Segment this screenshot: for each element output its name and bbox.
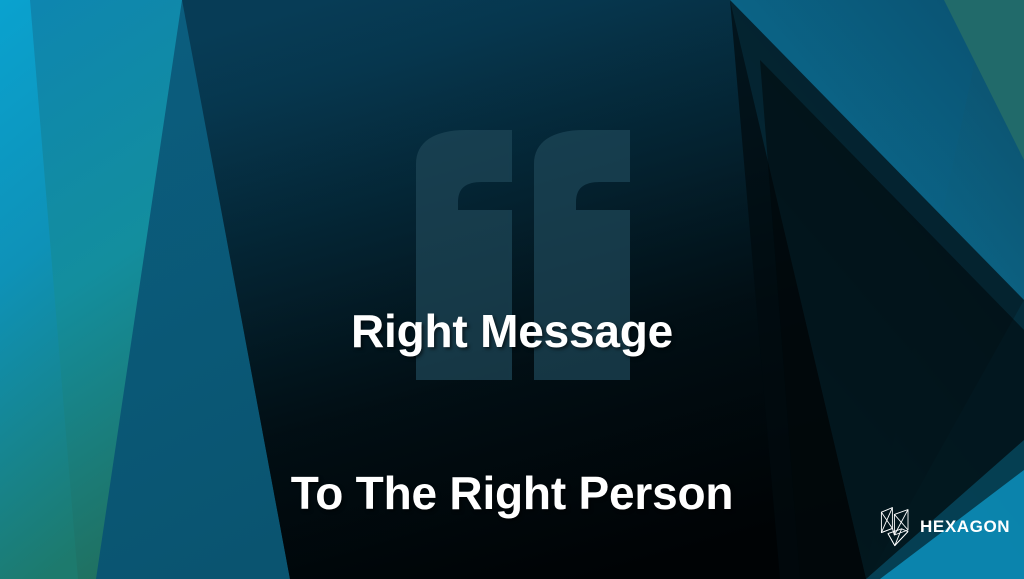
hexagon-wordmark: HEXAGON (920, 518, 1010, 535)
headline-line-2: To The Right Person (0, 466, 1024, 520)
hexagon-logo: HEXAGON (879, 506, 1010, 547)
hexagon-logo-mark-icon (879, 506, 911, 547)
headline-line-1: Right Message (0, 304, 1024, 358)
presentation-slide: Right Message To The Right Person At The… (0, 0, 1024, 579)
slide-headline: Right Message To The Right Person At The… (0, 196, 1024, 579)
